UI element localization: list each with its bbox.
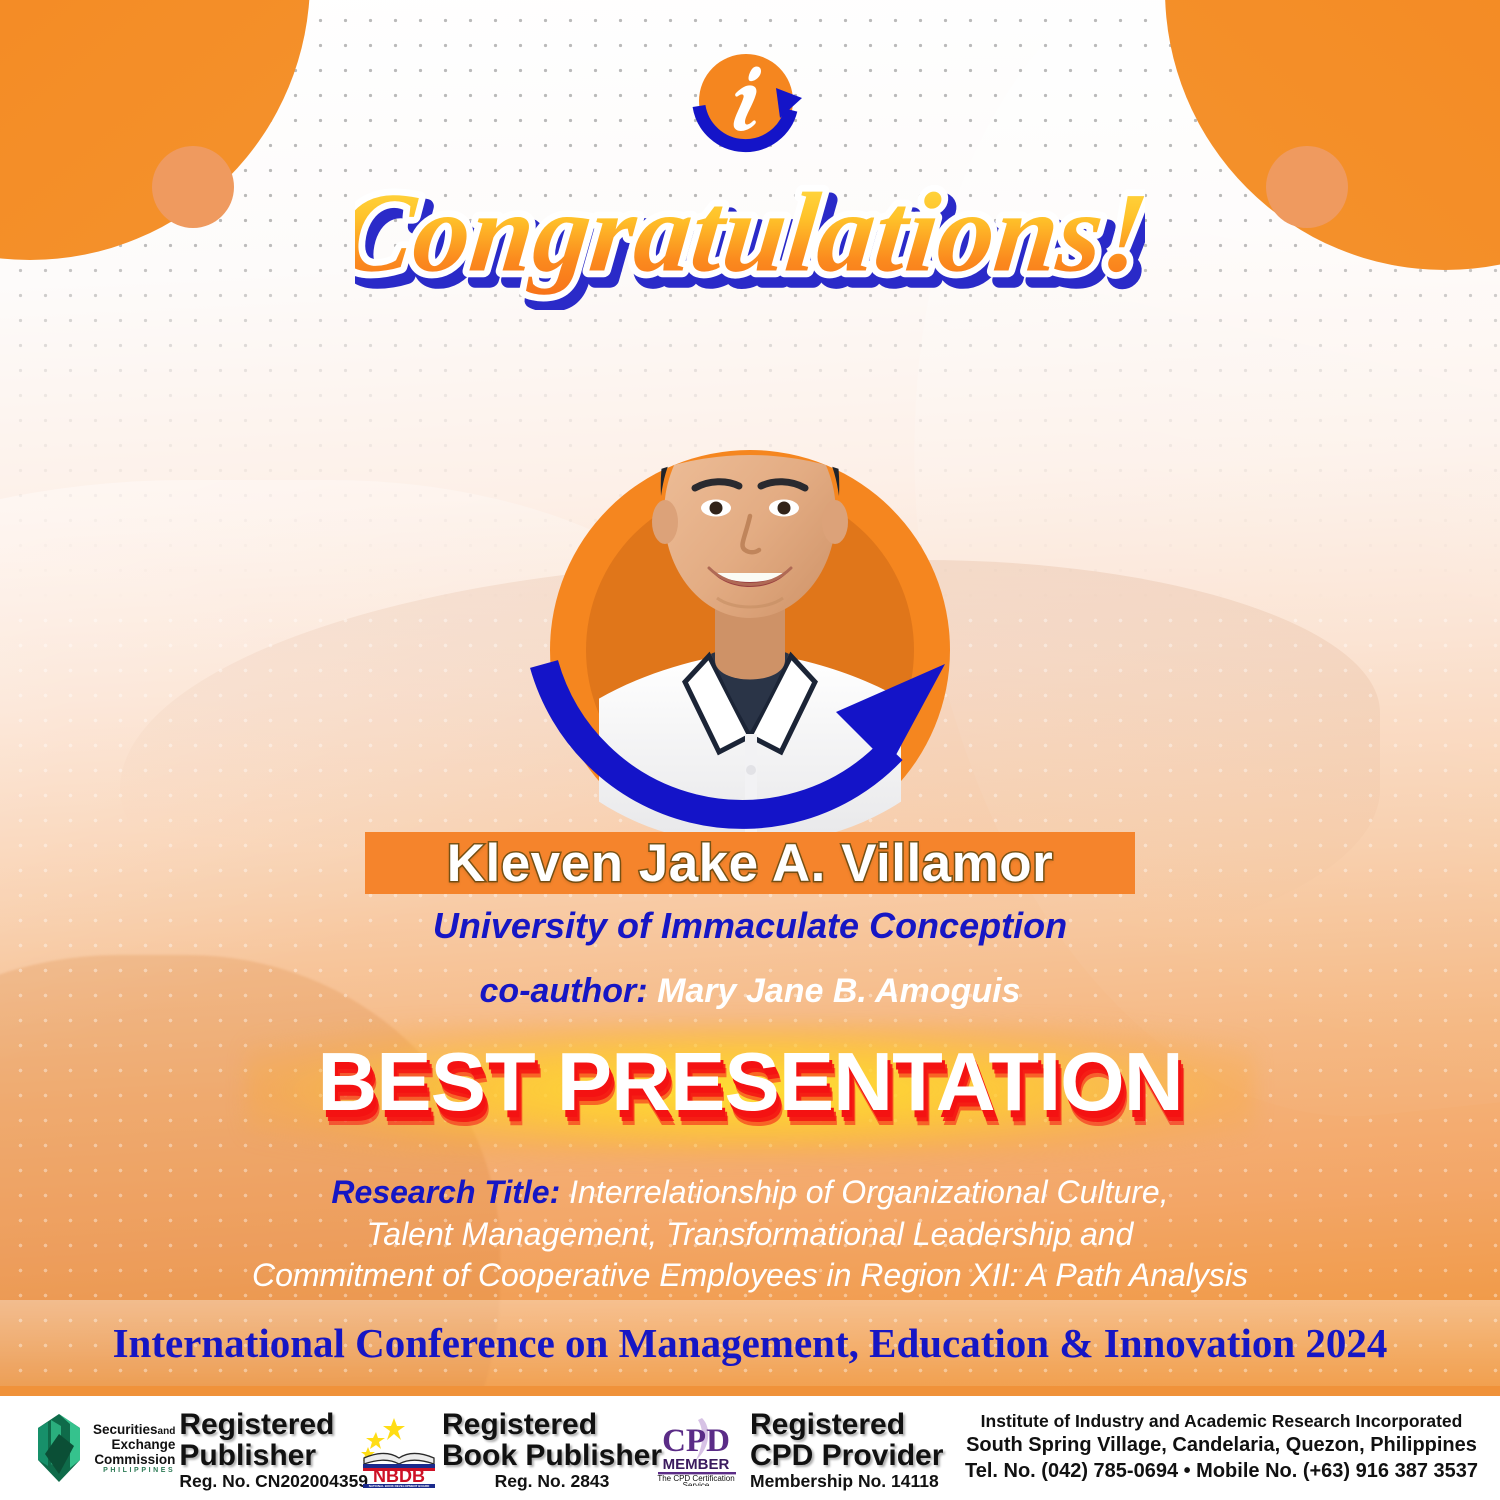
nbdb-logo-text: NBDB [373, 1466, 425, 1486]
iiari-logo-icon [690, 46, 810, 164]
footer: Securitiesand Exchange Commission PHILIP… [0, 1396, 1500, 1500]
award-title: BEST PRESENTATION [317, 1034, 1182, 1130]
coauthor-label: co-author: [480, 972, 648, 1010]
sec-line1: Securities [93, 1422, 158, 1437]
institute-address: South Spring Village, Candelaria, Quezon… [961, 1432, 1482, 1458]
nbdb-logo-sub: NATIONAL BOOK DEVELOPMENT BOARD [369, 1484, 430, 1488]
congratulations-headline: Congratulations! Congratulations! Congra… [0, 160, 1500, 310]
cpd-registration: Registered CPD Provider Membership No. 1… [750, 1410, 943, 1492]
institute-contact: Tel. No. (042) 785-0694 • Mobile No. (+6… [961, 1458, 1482, 1484]
nbdb-title-line1: Registered [442, 1410, 662, 1441]
cpd-logo-icon: CPD MEMBER The CPD Certification Service [650, 1414, 746, 1486]
awardee-photo [540, 300, 960, 840]
sec-country: PHILIPPINES [93, 1467, 175, 1475]
conference-name: International Conference on Management, … [113, 1319, 1388, 1367]
sec-and: and [158, 1426, 176, 1437]
sec-reg-no: Reg. No. CN202004359 [179, 1471, 368, 1492]
footer-cpd-block: CPD MEMBER The CPD Certification Service… [650, 1410, 955, 1492]
cpd-title-line2: CPD Provider [750, 1441, 943, 1472]
congratulations-wordmark: Congratulations! Congratulations! Congra… [355, 160, 1145, 310]
sec-logo-icon [30, 1412, 88, 1484]
nbdb-logo-icon: NBDB NATIONAL BOOK DEVELOPMENT BOARD [360, 1414, 438, 1488]
cpd-logo-text: CPD [662, 1423, 730, 1459]
sec-title-line1: Registered [179, 1410, 368, 1441]
sec-line3: Commission [93, 1452, 175, 1467]
footer-nbdb-block: NBDB NATIONAL BOOK DEVELOPMENT BOARD Reg… [360, 1410, 650, 1492]
footer-sec-block: Securitiesand Exchange Commission PHILIP… [30, 1410, 360, 1492]
portrait-illustration [599, 300, 901, 840]
cpd-logo-member: MEMBER [663, 1456, 730, 1473]
footer-institute-block: Institute of Industry and Academic Resea… [955, 1410, 1482, 1484]
awardee-affiliation: University of Immaculate Conception [0, 905, 1500, 947]
coauthor-name: Mary Jane B. Amoguis [657, 972, 1020, 1010]
nbdb-title-line2: Book Publisher [442, 1441, 662, 1472]
nbdb-reg-no: Reg. No. 2843 [442, 1471, 662, 1492]
awardee-name: Kleven Jake A. Villamor [447, 833, 1054, 894]
institute-name: Institute of Industry and Academic Resea… [961, 1410, 1482, 1432]
sec-wordmark: Securitiesand Exchange Commission PHILIP… [93, 1422, 175, 1475]
cpd-logo-sub2: Service [683, 1481, 710, 1486]
cpd-reg-no: Membership No. 14118 [750, 1471, 943, 1492]
awardee-name-banner: Kleven Jake A. Villamor [365, 832, 1135, 894]
sec-registration: Registered Publisher Reg. No. CN20200435… [179, 1410, 368, 1492]
sec-title-line2: Publisher [179, 1441, 368, 1472]
sec-line2: Exchange [93, 1437, 175, 1452]
congratulations-poster: Congratulations! Congratulations! Congra… [0, 0, 1500, 1500]
research-title-line3: Commitment of Cooperative Employees in R… [252, 1257, 1248, 1293]
research-title: Research Title: Interrelationship of Org… [60, 1172, 1440, 1297]
award-title-wrap: BEST PRESENTATION [0, 1034, 1500, 1130]
cpd-title-line1: Registered [750, 1410, 943, 1441]
conference-band-underline [0, 1386, 1500, 1396]
congratulations-text: Congratulations! [355, 169, 1145, 296]
conference-band: International Conference on Management, … [0, 1300, 1500, 1386]
coauthor-line: co-author: Mary Jane B. Amoguis [0, 972, 1500, 1011]
nbdb-registration: Registered Book Publisher Reg. No. 2843 [442, 1410, 662, 1492]
research-title-label: Research Title: [331, 1174, 560, 1210]
research-title-line1: Interrelationship of Organizational Cult… [560, 1174, 1168, 1210]
research-title-line2: Talent Management, Transformational Lead… [367, 1216, 1134, 1252]
